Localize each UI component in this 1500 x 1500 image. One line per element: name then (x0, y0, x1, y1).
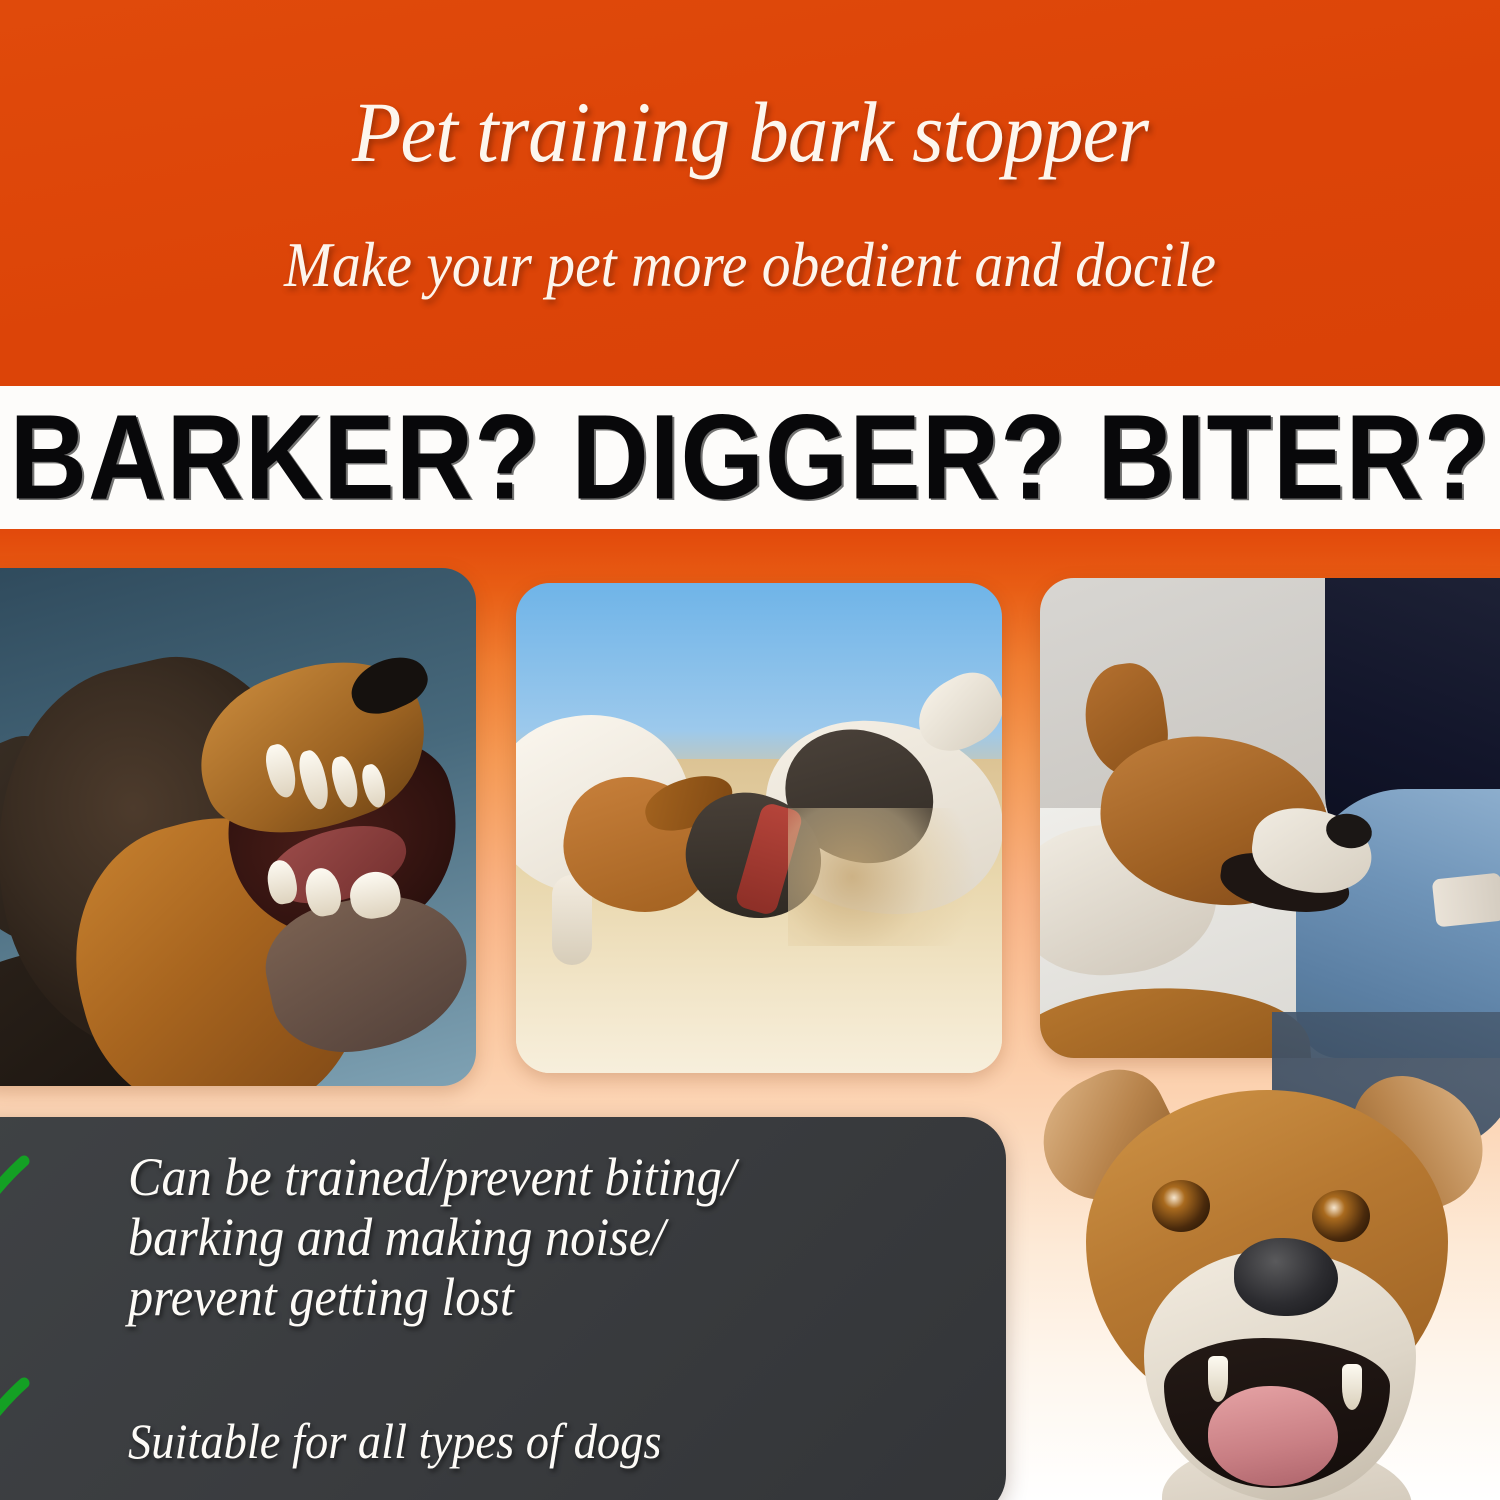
barking-dog-photo (0, 568, 476, 1086)
flying-sand-spray (788, 808, 1002, 945)
dog-tongue-shape (1208, 1386, 1338, 1486)
features-panel: Can be trained/prevent biting/ barking a… (0, 1117, 1006, 1500)
header-banner: Pet training bark stopper Make your pet … (0, 0, 1500, 386)
page-title: Pet training bark stopper (45, 82, 1455, 182)
jeans-rip (1431, 872, 1500, 927)
product-ad-page: Pet training bark stopper Make your pet … (0, 0, 1500, 1500)
dog-tooth (1208, 1356, 1228, 1402)
feature-text-1: Can be trained/prevent biting/ barking a… (128, 1147, 736, 1327)
check-mark-icon (0, 1147, 32, 1229)
feature-item-1: Can be trained/prevent biting/ barking a… (0, 1147, 781, 1327)
feature-text-2: Suitable for all types of dogs (128, 1413, 661, 1469)
happy-dog-photo (1012, 1012, 1500, 1500)
dog-left-eye (1152, 1180, 1210, 1232)
headline-band: BARKER? DIGGER? BITER? (0, 386, 1500, 529)
dog-tooth (1342, 1364, 1362, 1410)
digging-dogs-photo (516, 583, 1002, 1073)
dog-right-eye (1312, 1190, 1370, 1242)
check-mark-icon (0, 1369, 32, 1451)
feature-item-2: Suitable for all types of dogs (0, 1369, 702, 1469)
biting-dog-photo (1040, 578, 1500, 1058)
headline-text: BARKER? DIGGER? BITER? (0, 397, 1500, 518)
dog-nose-shape (1234, 1238, 1338, 1316)
page-subtitle: Make your pet more obedient and docile (75, 228, 1425, 302)
